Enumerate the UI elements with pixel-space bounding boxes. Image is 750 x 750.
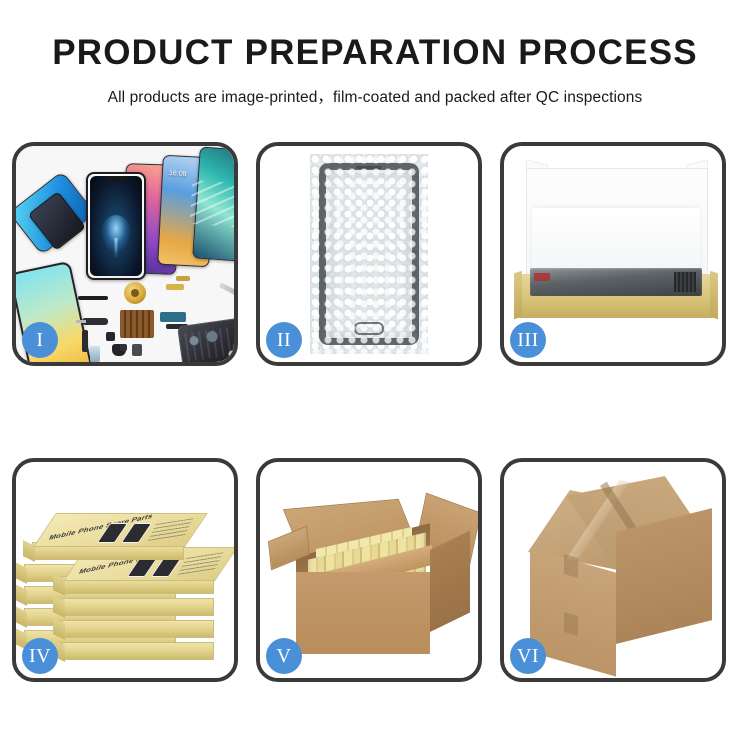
stacked-box-icon	[62, 620, 214, 638]
step-badge-2: II	[266, 322, 302, 358]
box-side-face	[16, 562, 27, 584]
step-panel-1: 16:08	[12, 142, 238, 366]
step-badge-5: V	[266, 638, 302, 674]
step-panel-6: VI	[500, 458, 726, 682]
camera-part-icon	[132, 344, 142, 356]
page-title: PRODUCT PREPARATION PROCESS	[0, 34, 750, 73]
gold-connector-1-icon	[166, 284, 184, 290]
stacked-box-icon	[62, 598, 214, 616]
step-badge-6: VI	[510, 638, 546, 674]
packed-screen-icon	[530, 268, 702, 296]
phone-clock-label: 16:08	[169, 170, 187, 178]
teal-wave-phone-icon	[192, 146, 234, 261]
page-header: PRODUCT PREPARATION PROCESS All products…	[0, 0, 750, 107]
phone-notch-icon	[105, 176, 127, 182]
gold-connector-2-icon	[176, 276, 190, 281]
step-panel-2: II	[256, 142, 482, 366]
step-badge-1: I	[22, 322, 58, 358]
process-steps-grid: 16:08	[12, 142, 738, 682]
step-badge-3: III	[510, 322, 546, 358]
step-panel-3: III	[500, 142, 726, 366]
stacked-box-icon	[62, 642, 214, 660]
screen-glass-icon	[319, 163, 419, 345]
small-component-1-icon	[106, 332, 115, 341]
carton-front-face-icon	[296, 572, 430, 654]
box-side-face	[16, 606, 27, 628]
labelled-box-icon: Mobile Phone Spare Parts	[32, 542, 184, 560]
vibration-motor-icon	[124, 282, 146, 304]
jellyfish-wallpaper-icon	[101, 215, 131, 253]
page-subtitle: All products are image-printed，film-coat…	[0, 85, 750, 107]
home-button-icon	[354, 322, 384, 335]
box-side-face	[23, 540, 35, 562]
chip-array-icon	[120, 310, 154, 338]
black-screen-phone-icon	[86, 172, 146, 280]
bubble-wrap-icon	[310, 154, 428, 354]
step-panel-5: V	[256, 458, 482, 682]
spare-parts-group	[68, 274, 234, 362]
box-label-specs-lines	[146, 518, 193, 544]
flex-cable-c-icon	[160, 312, 186, 322]
small-component-2-icon	[120, 344, 127, 351]
box-label: Mobile Phone Spare Parts	[46, 519, 197, 541]
battery-part-icon	[90, 346, 100, 362]
flex-cable-b-icon	[82, 330, 88, 352]
screws-icon	[228, 350, 234, 360]
phone-mainboard-icon	[177, 318, 234, 362]
box-side-face	[16, 584, 27, 606]
flex-cable-a-icon	[82, 318, 108, 325]
phone-wallpaper	[90, 176, 142, 276]
carton-mark-2-icon	[564, 612, 578, 636]
tweezers-icon	[219, 282, 234, 302]
step-panel-4: Mobile Phone Spare Parts Mobile Phone Sp…	[12, 458, 238, 682]
step-badge-4: IV	[22, 638, 58, 674]
sealed-carton-side-face-icon	[616, 508, 712, 644]
antenna-part-icon	[78, 296, 108, 300]
carton-mark-1-icon	[564, 554, 578, 578]
phone-fan-group: 16:08	[16, 146, 234, 271]
labelled-box-icon: Mobile Phone Spare Parts	[62, 576, 214, 594]
box-lid-face: Mobile Phone Spare Parts	[33, 513, 208, 547]
